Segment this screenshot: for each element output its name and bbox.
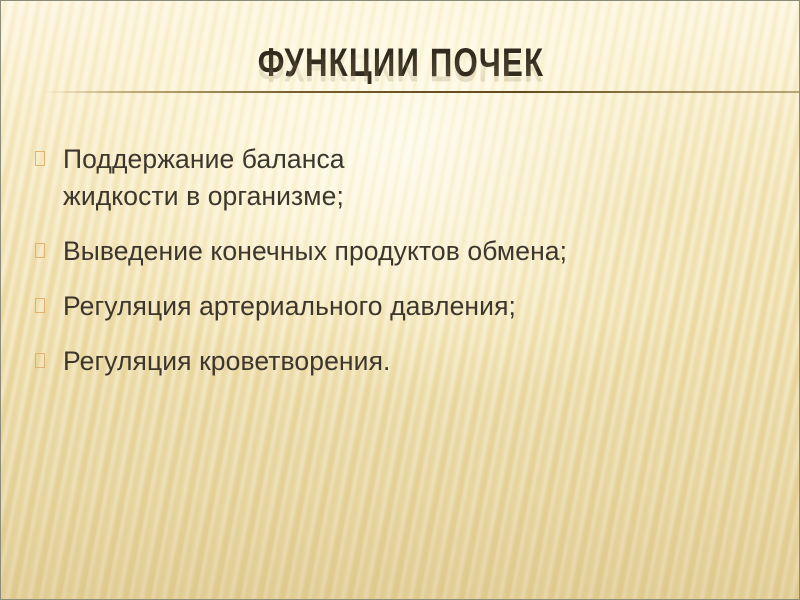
list-item-label: Поддержание баланса жидкости в организме… [63,141,463,215]
hollow-square-bullet-icon [35,141,63,166]
list-item: Поддержание баланса жидкости в организме… [35,141,771,215]
hollow-square-bullet-icon [35,233,63,258]
list-item-label: Регуляция кроветворения. [63,343,771,380]
hollow-square-bullet-icon [35,343,63,368]
slide-body-content: Поддержание баланса жидкости в организме… [35,141,771,398]
list-item: Регуляция артериального давления; [35,288,771,325]
presentation-slide: Функции почек Функции почек Поддержание … [0,0,800,600]
title-divider-line [1,91,800,93]
list-item: Выведение конечных продуктов обмена; [35,233,771,270]
slide-title: Функции почек [89,37,713,89]
hollow-square-bullet-icon [35,288,63,313]
list-item-label: Выведение конечных продуктов обмена; [63,233,771,270]
slide-title-area: Функции почек Функции почек [1,37,800,95]
list-item: Регуляция кроветворения. [35,343,771,380]
list-item-label: Регуляция артериального давления; [63,288,771,325]
